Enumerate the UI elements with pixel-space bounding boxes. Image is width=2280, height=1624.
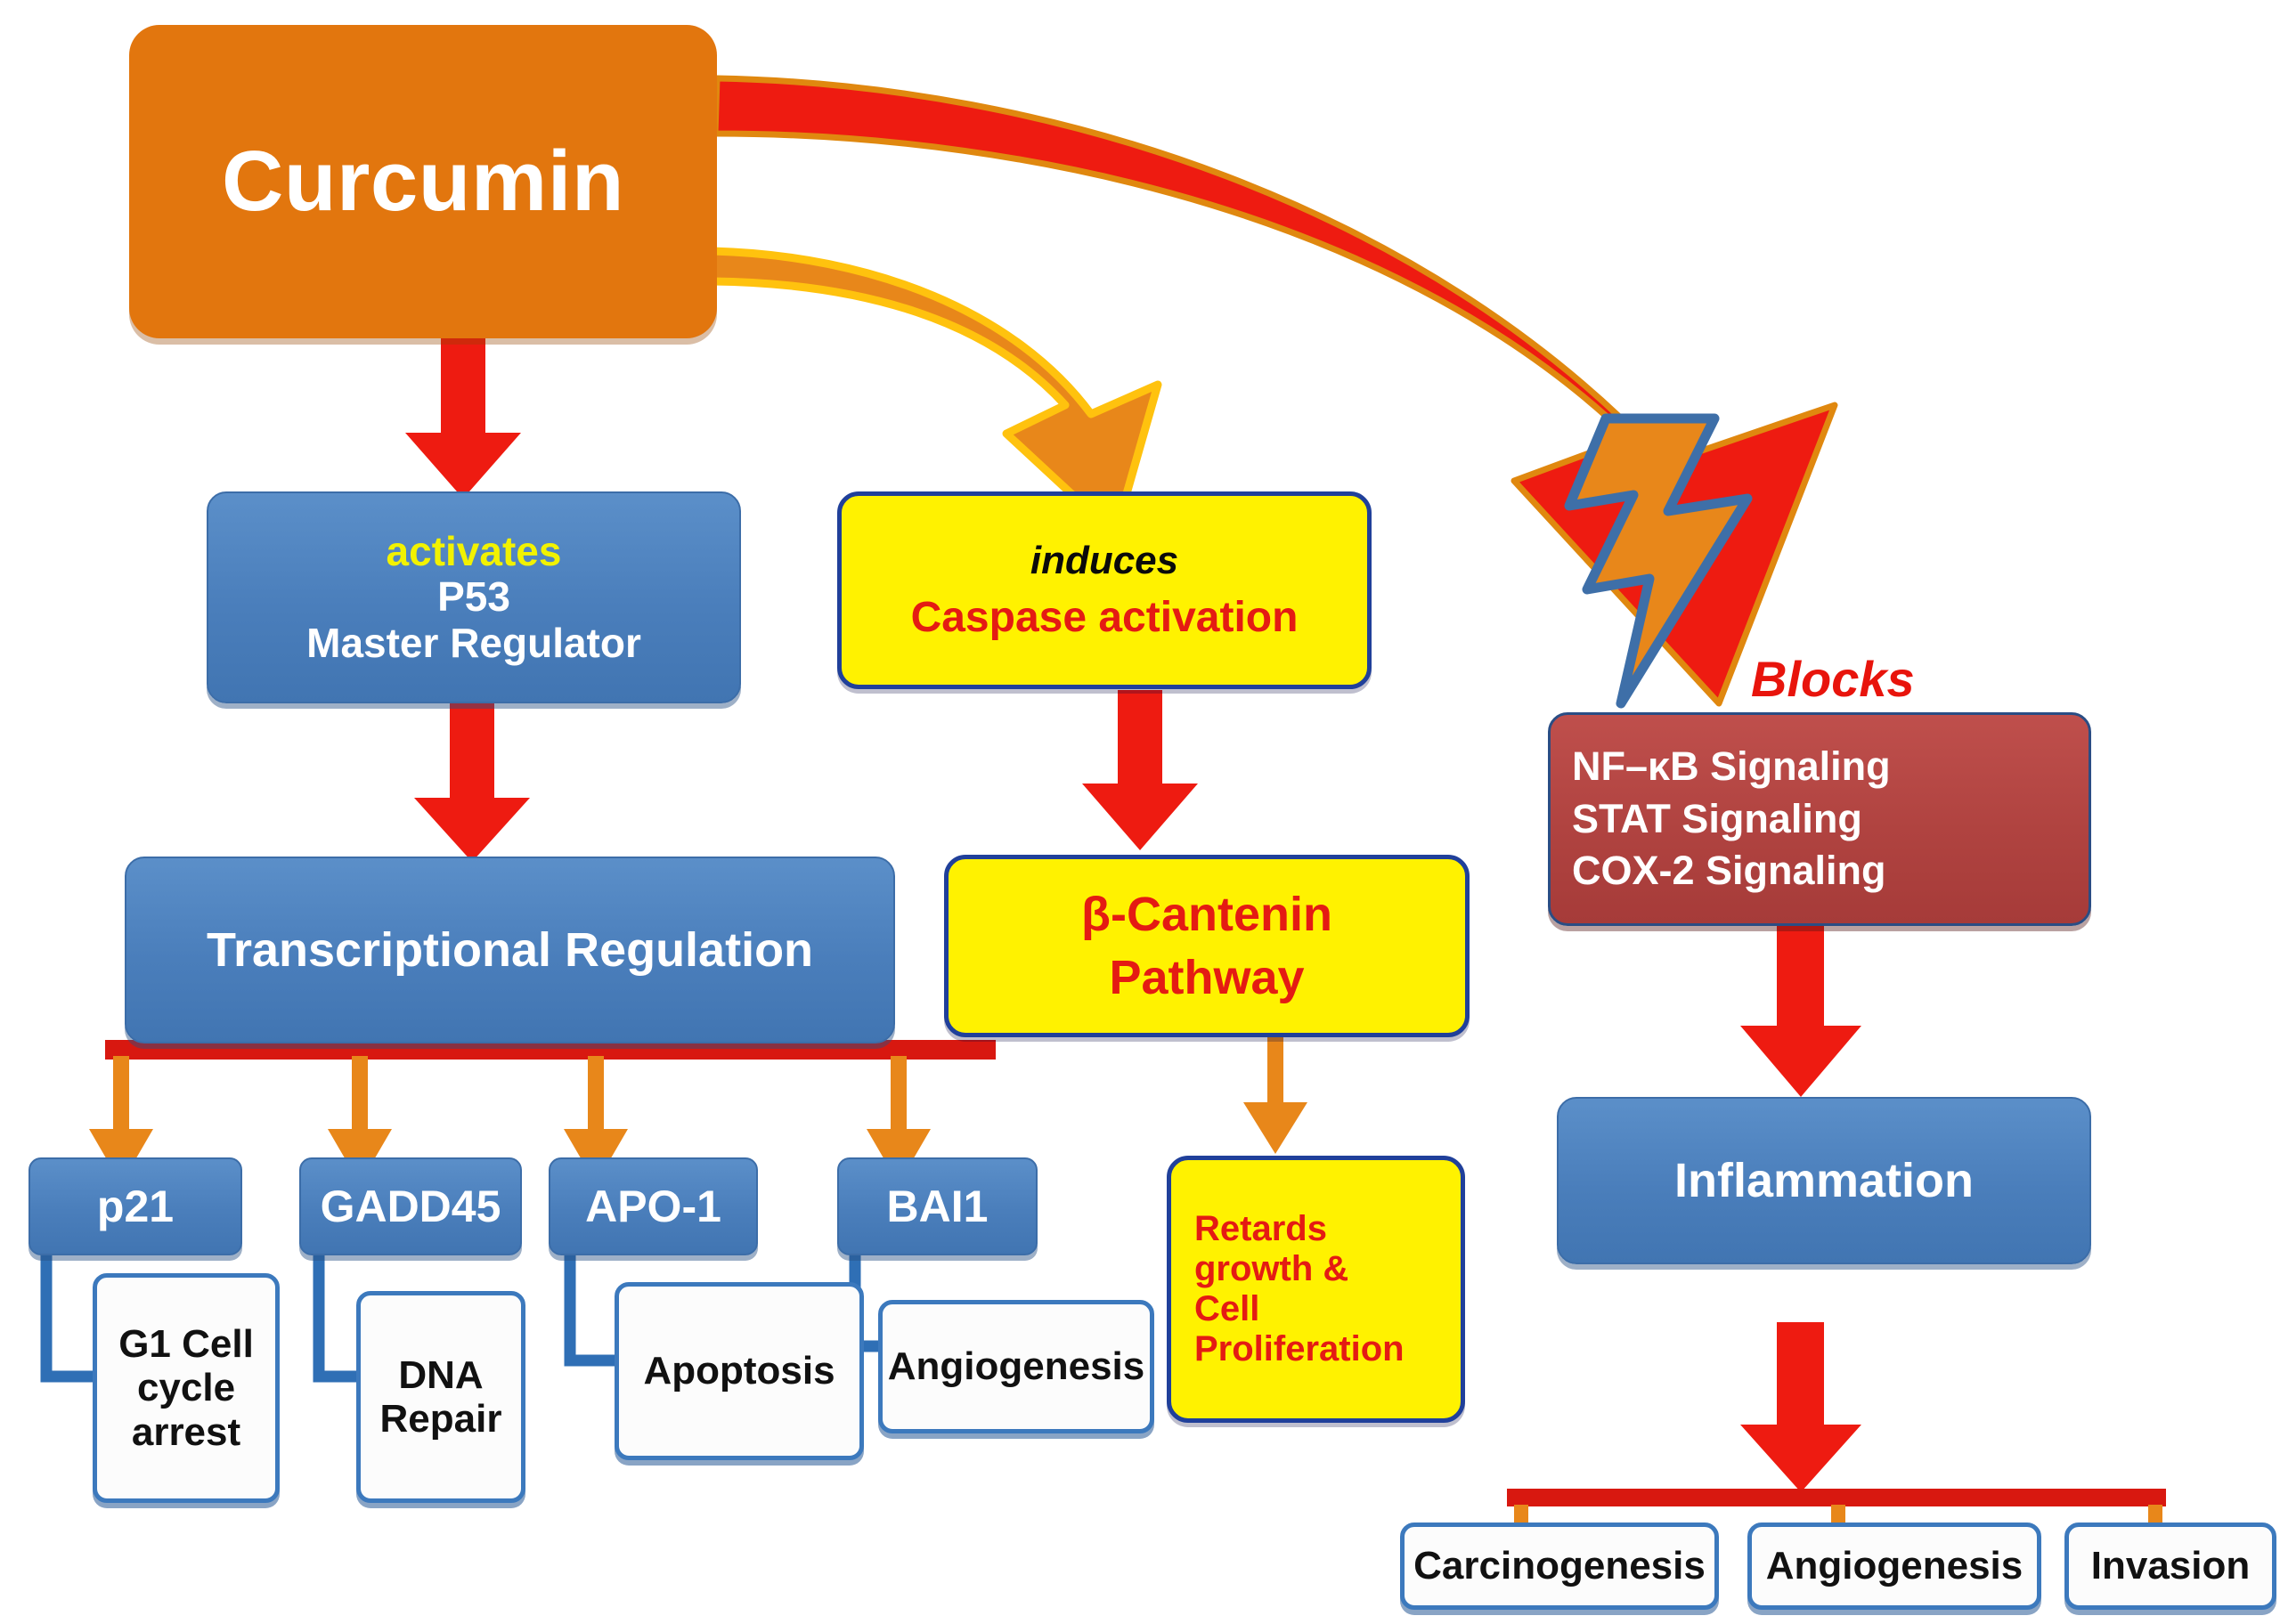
- node-gene-bai1[interactable]: BAI1: [837, 1157, 1038, 1255]
- node-gene-gadd45-label: GADD45: [321, 1181, 501, 1231]
- label-blocks: Blocks: [1751, 650, 1915, 708]
- outcome-g1-line1: G1 Cell: [118, 1322, 254, 1366]
- node-outcome-angiogenesis[interactable]: Angiogenesis: [878, 1300, 1154, 1433]
- outcome-dna-line2: Repair: [380, 1397, 502, 1441]
- node-signaling[interactable]: NF–κB Signaling STAT Signaling COX-2 Sig…: [1548, 712, 2091, 926]
- node-retards-line2: growth &: [1194, 1249, 1348, 1289]
- diagram-canvas: Curcumin activates P53 Master Regulator …: [0, 0, 2280, 1624]
- outcome-angiogenesis-label: Angiogenesis: [888, 1344, 1145, 1388]
- node-caspase[interactable]: induces Caspase activation: [837, 491, 1372, 689]
- outcome-g1-line3: arrest: [132, 1410, 240, 1454]
- outcome-apoptosis-label: Apoptosis: [643, 1349, 835, 1393]
- node-signaling-line3: COX-2 Signaling: [1551, 849, 2089, 893]
- node-p53-verb: activates: [387, 529, 562, 575]
- node-gene-apo1-label: APO-1: [585, 1181, 721, 1231]
- lightning-bolt-icon: [1569, 418, 1747, 703]
- node-gene-bai1-label: BAI1: [887, 1181, 989, 1231]
- node-signaling-line2: STAT Signaling: [1551, 797, 2089, 841]
- outcome-angiogenesis-right-label: Angiogenesis: [1766, 1544, 2023, 1587]
- node-p53-line2: Master Regulator: [306, 621, 641, 667]
- outcome-g1-line2: cycle: [137, 1366, 235, 1409]
- node-outcome-invasion[interactable]: Invasion: [2064, 1522, 2276, 1610]
- node-gene-apo1[interactable]: APO-1: [549, 1157, 758, 1255]
- node-caspase-verb: induces: [1030, 539, 1178, 582]
- node-retards-line1: Retards: [1194, 1209, 1327, 1249]
- node-retards-line4: Proliferation: [1194, 1329, 1405, 1369]
- node-p53-line1: P53: [437, 574, 510, 621]
- node-inflammation[interactable]: Inflammation: [1557, 1097, 2091, 1264]
- node-outcome-g1-arrest[interactable]: G1 Cell cycle arrest: [93, 1273, 280, 1503]
- node-transcriptional-label: Transcriptional Regulation: [207, 923, 813, 977]
- node-outcome-carcinogenesis[interactable]: Carcinogenesis: [1400, 1522, 1719, 1610]
- node-bcatenin-line1: β-Cantenin: [1081, 888, 1332, 941]
- node-bcatenin[interactable]: β-Cantenin Pathway: [944, 855, 1470, 1037]
- arrow-p53-to-transcriptional: [414, 703, 530, 862]
- node-gene-p21-label: p21: [97, 1181, 174, 1231]
- node-retards[interactable]: Retards growth & Cell Proliferation: [1167, 1156, 1465, 1423]
- outcome-dna-line1: DNA: [398, 1353, 483, 1397]
- node-caspase-label: Caspase activation: [911, 594, 1299, 642]
- node-signaling-line1: NF–κB Signaling: [1551, 744, 2089, 789]
- node-inflammation-label: Inflammation: [1674, 1154, 1974, 1207]
- node-outcome-apoptosis[interactable]: Apoptosis: [615, 1282, 864, 1460]
- node-p53[interactable]: activates P53 Master Regulator: [207, 491, 741, 703]
- node-outcome-angiogenesis-right[interactable]: Angiogenesis: [1747, 1522, 2041, 1610]
- node-bcatenin-line2: Pathway: [1109, 951, 1304, 1004]
- node-gene-gadd45[interactable]: GADD45: [299, 1157, 522, 1255]
- node-outcome-dna-repair[interactable]: DNA Repair: [356, 1291, 525, 1503]
- node-transcriptional[interactable]: Transcriptional Regulation: [125, 857, 895, 1043]
- node-retards-line3: Cell: [1194, 1289, 1259, 1329]
- node-curcumin[interactable]: Curcumin: [129, 25, 717, 338]
- outcome-invasion-label: Invasion: [2091, 1544, 2251, 1587]
- arrow-caspase-to-bcatenin: [1082, 690, 1198, 850]
- arrow-curcumin-to-p53: [405, 338, 521, 499]
- arrow-signaling-to-inflammation: [1740, 926, 1861, 1097]
- arrow-bcatenin-to-retards: [1243, 1035, 1307, 1154]
- node-gene-p21[interactable]: p21: [28, 1157, 242, 1255]
- outcome-carcinogenesis-label: Carcinogenesis: [1413, 1544, 1706, 1587]
- node-curcumin-label: Curcumin: [222, 134, 624, 230]
